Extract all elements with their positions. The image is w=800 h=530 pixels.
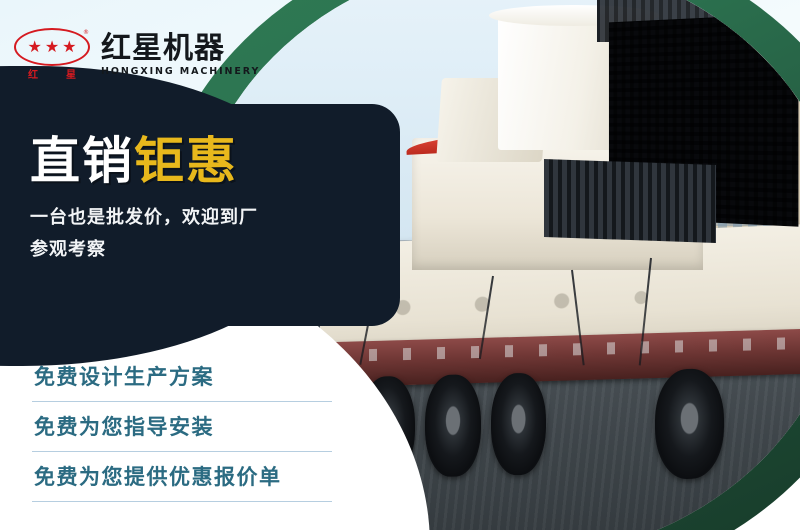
headline-part-gold: 钜惠: [134, 132, 238, 190]
brand-logo[interactable]: ★ ★ ★ ® 红 星 红星机器 HONGXING MACHINERY: [14, 26, 260, 84]
feature-list: 免费设计生产方案 免费为您指导安装 免费为您提供优惠报价单: [32, 352, 332, 502]
logo-subtext: 红 星: [14, 66, 90, 81]
logo-badge-left: 红: [28, 66, 38, 81]
headline-subtitle: 一台也是批发价，欢迎到厂 参观考察: [30, 202, 258, 265]
star-icon: ★: [45, 39, 59, 55]
star-icon: ★: [27, 39, 41, 55]
license-plate: [761, 469, 800, 499]
brand-name-en: HONGXING MACHINERY: [101, 66, 260, 77]
headline-part-white: 直销: [30, 132, 134, 190]
star-icon: ★: [62, 39, 76, 55]
brand-name-cn: 红星机器: [101, 33, 260, 65]
logo-oval-ring: ★ ★ ★ ®: [14, 28, 90, 66]
logo-badge-right: 星: [66, 66, 76, 81]
feature-item-installation[interactable]: 免费为您指导安装: [32, 402, 332, 452]
headline-block: 直销钜惠 一台也是批发价，欢迎到厂 参观考察: [30, 136, 258, 265]
wheel: [491, 372, 546, 475]
feature-item-quotation[interactable]: 免费为您提供优惠报价单: [32, 452, 332, 502]
platform-lower-panel: [544, 159, 716, 243]
brand-name-block: 红星机器 HONGXING MACHINERY: [101, 33, 260, 78]
promo-banner: ★ ★ ★ ® 红 星 红星机器 HONGXING MACHINERY 直销钜惠…: [0, 0, 800, 530]
feature-item-design[interactable]: 免费设计生产方案: [32, 352, 332, 402]
subtitle-line-1: 一台也是批发价，欢迎到厂: [30, 202, 258, 234]
headline: 直销钜惠: [30, 136, 258, 186]
registered-mark: ®: [83, 29, 89, 36]
trailer-wheels: [360, 367, 769, 479]
wheel: [425, 374, 480, 477]
hongxing-star-oval-logo-icon: ★ ★ ★ ® 红 星: [14, 26, 92, 84]
subtitle-line-2: 参观考察: [30, 234, 258, 266]
wheel: [654, 368, 724, 480]
